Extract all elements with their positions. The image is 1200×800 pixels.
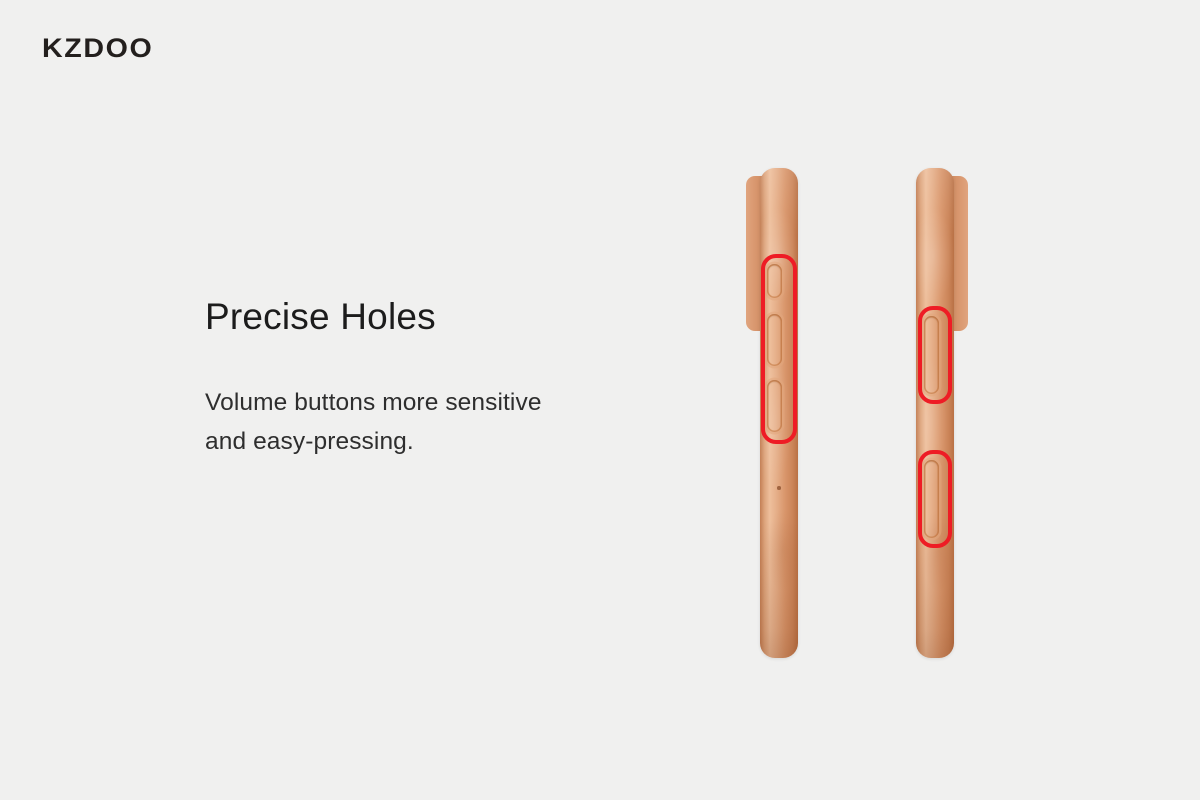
- volume-down-cutout: [767, 380, 782, 432]
- action-button-cutout: [924, 316, 939, 394]
- phone-case-right-view: [916, 168, 954, 658]
- mute-switch-cutout: [767, 264, 782, 298]
- phone-case-left-view: [760, 168, 798, 658]
- volume-up-cutout: [767, 314, 782, 366]
- power-button-cutout: [924, 460, 939, 538]
- marketing-banner: KZDOO Precise Holes Volume buttons more …: [0, 0, 1200, 800]
- microphone-hole: [777, 486, 781, 490]
- case-body: [916, 168, 954, 658]
- product-images: [0, 0, 1200, 800]
